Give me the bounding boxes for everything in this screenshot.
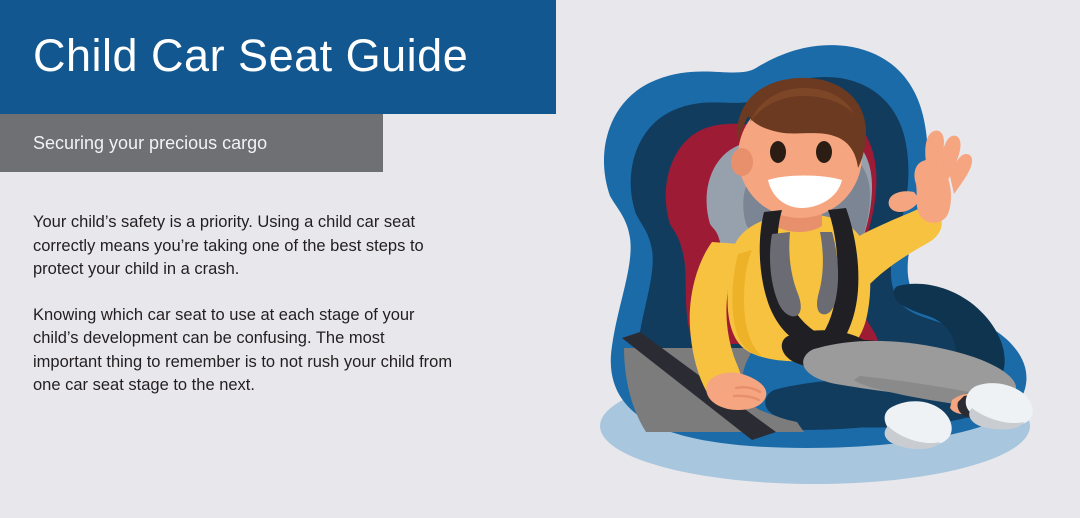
infographic-page: Child Car Seat Guide Securing your preci… xyxy=(0,0,1080,518)
child-in-car-seat-illustration xyxy=(560,28,1060,500)
child-eye-left xyxy=(770,141,786,163)
body-paragraph-1: Your child’s safety is a priority. Using… xyxy=(33,211,453,282)
body-text-block: Your child’s safety is a priority. Using… xyxy=(33,211,453,398)
child-ear xyxy=(731,148,753,176)
child-eye-right xyxy=(816,141,832,163)
body-paragraph-2: Knowing which car seat to use at each st… xyxy=(33,304,453,398)
page-title: Child Car Seat Guide xyxy=(33,28,468,84)
page-subtitle: Securing your precious cargo xyxy=(33,131,267,155)
